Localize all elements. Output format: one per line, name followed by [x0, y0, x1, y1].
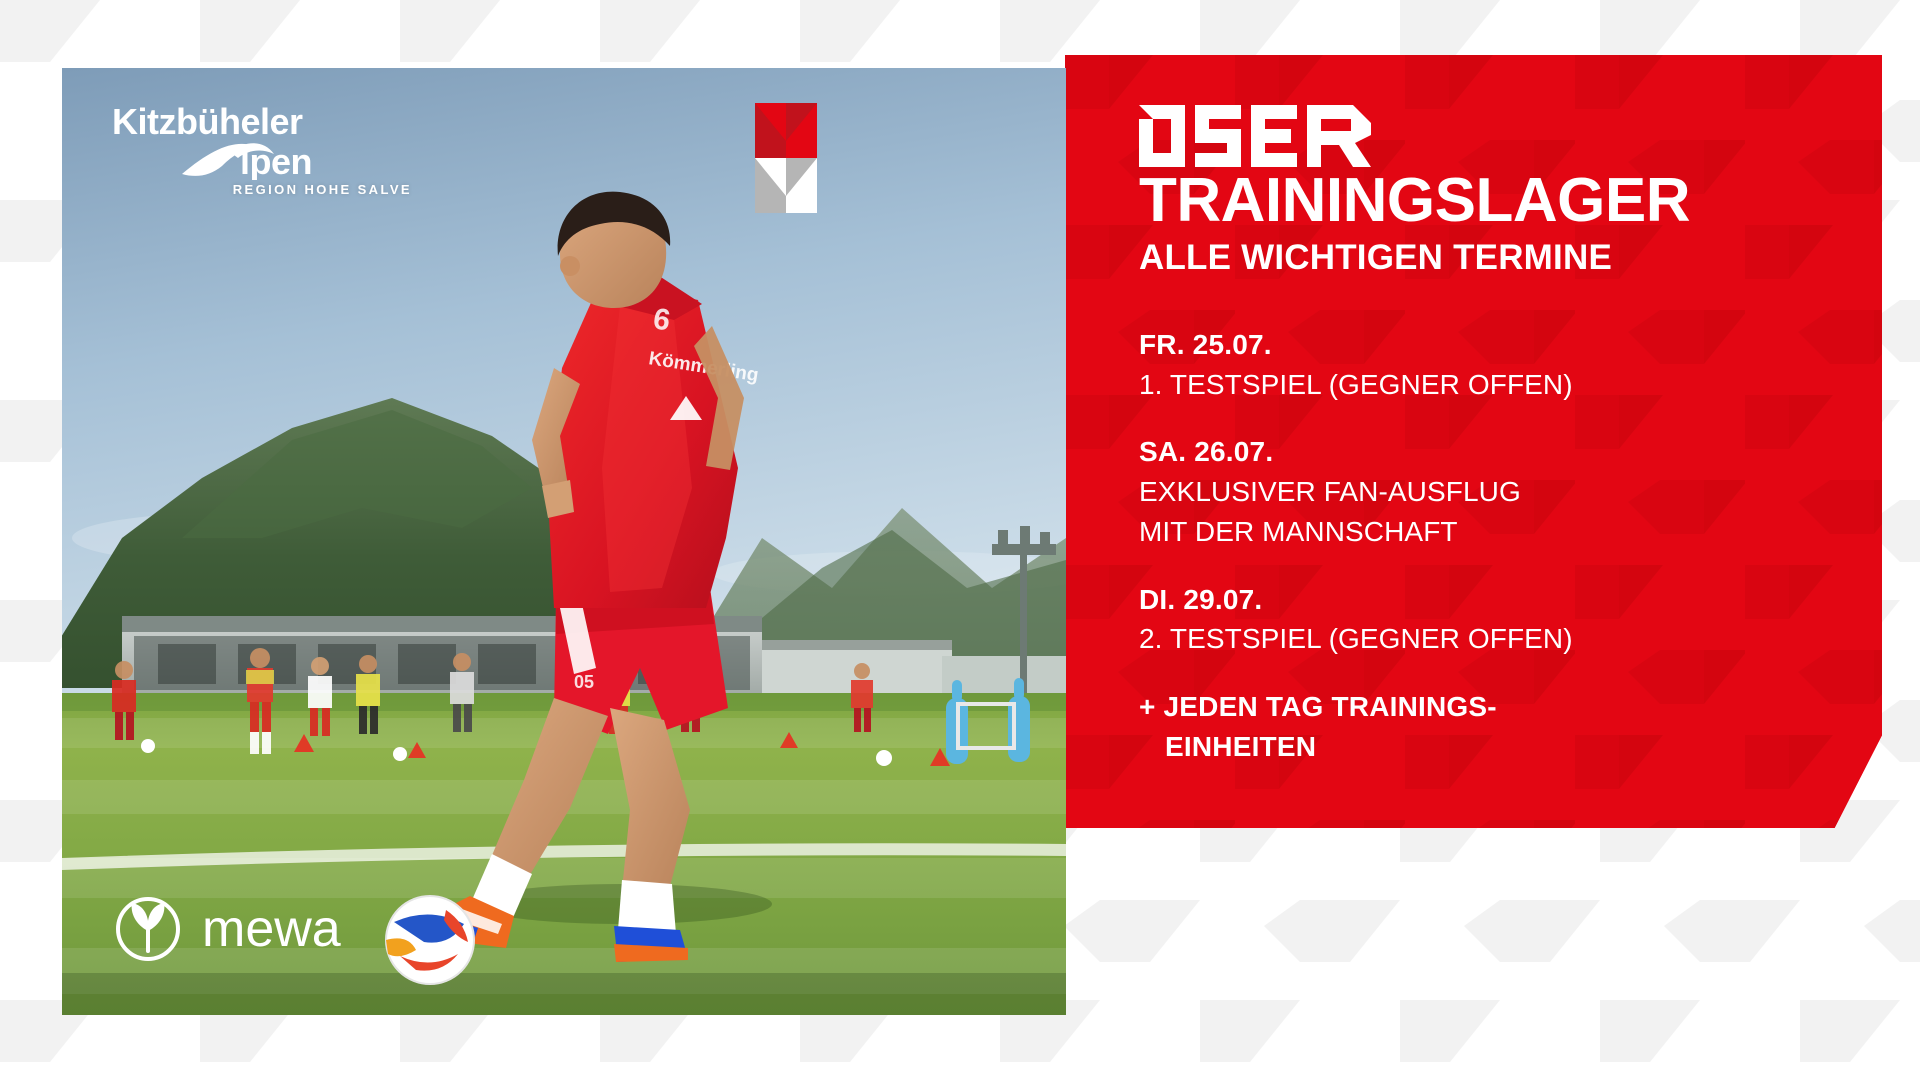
photo-illustration: 05 Kömmerling 6 [62, 68, 1066, 1015]
event-description: EXKLUSIVER FAN-AUSFLUG [1139, 472, 1899, 512]
title-subtitle: ALLE WICHTIGEN TERMINE [1139, 240, 1899, 277]
event-item: SA. 26.07. EXKLUSIVER FAN-AUSFLUG MIT DE… [1139, 432, 1899, 551]
footnote: + JEDEN TAG TRAININGS- EINHEITEN [1139, 687, 1899, 767]
mewa-wordmark-icon: mewa [202, 900, 362, 958]
training-photo: 05 Kömmerling 6 [62, 68, 1066, 1015]
mainz05-flag-icon [755, 103, 817, 213]
footnote-line-1: + JEDEN TAG TRAININGS- [1139, 687, 1899, 727]
title-05er-logotype-icon [1139, 105, 1371, 167]
svg-text:Kitzbüheler: Kitzbüheler [112, 101, 303, 142]
poster-text-content: TRAININGSLAGER ALLE WICHTIGEN TERMINE FR… [1139, 55, 1899, 845]
title-main: TRAININGSLAGER [1139, 169, 1899, 232]
kitzbuehler-alpen-wordmark-icon: Kitzbüheler lpen [112, 100, 412, 180]
event-date: SA. 26.07. [1139, 432, 1899, 472]
event-item: FR. 25.07. 1. TESTSPIEL (GEGNER OFFEN) [1139, 325, 1899, 405]
event-item: DI. 29.07. 2. TESTSPIEL (GEGNER OFFEN) [1139, 580, 1899, 660]
mewa-flower-icon [114, 895, 182, 963]
svg-text:05: 05 [574, 672, 594, 692]
mewa-logo: mewa [114, 895, 362, 963]
title-05er [1139, 105, 1899, 167]
footnote-line-2: EINHEITEN [1139, 727, 1899, 767]
svg-text:mewa: mewa [202, 900, 341, 958]
kitzbuehler-alpen-subline: REGION HOHE SALVE [112, 182, 412, 197]
event-date: FR. 25.07. [1139, 325, 1899, 365]
poster-canvas: 05 Kömmerling 6 [0, 0, 1920, 1080]
kitzbuehler-alpen-logo: Kitzbüheler lpen REGION HOHE SALVE [112, 100, 412, 197]
event-date: DI. 29.07. [1139, 580, 1899, 620]
event-description: MIT DER MANNSCHAFT [1139, 512, 1899, 552]
events-list: FR. 25.07. 1. TESTSPIEL (GEGNER OFFEN) S… [1139, 325, 1899, 659]
event-description: 2. TESTSPIEL (GEGNER OFFEN) [1139, 619, 1899, 659]
event-description: 1. TESTSPIEL (GEGNER OFFEN) [1139, 365, 1899, 405]
svg-text:lpen: lpen [240, 141, 312, 180]
